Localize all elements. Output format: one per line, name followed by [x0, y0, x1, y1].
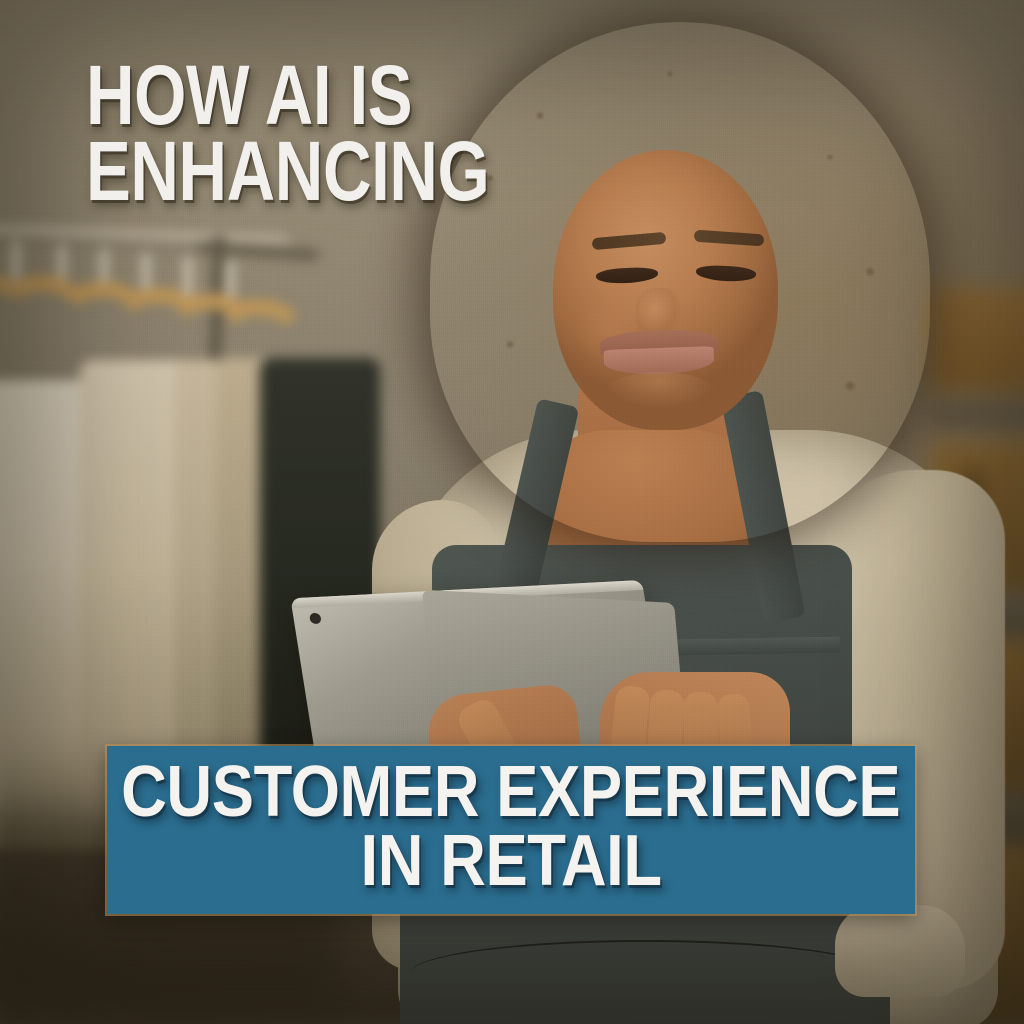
chin — [600, 372, 720, 422]
promo-graphic-canvas: HOW AI IS ENHANCING CUSTOMER EXPERIENCE … — [0, 0, 1024, 1024]
banner-line-2: IN RETAIL — [360, 827, 661, 896]
sleeve-cuff — [835, 905, 965, 997]
headline-text: HOW AI IS ENHANCING — [86, 58, 598, 209]
tablet-camera-icon — [309, 613, 322, 624]
title-banner: CUSTOMER EXPERIENCE IN RETAIL — [107, 746, 915, 914]
apron-pocket-seam — [410, 940, 880, 1024]
banner-line-1: CUSTOMER EXPERIENCE — [121, 758, 900, 827]
